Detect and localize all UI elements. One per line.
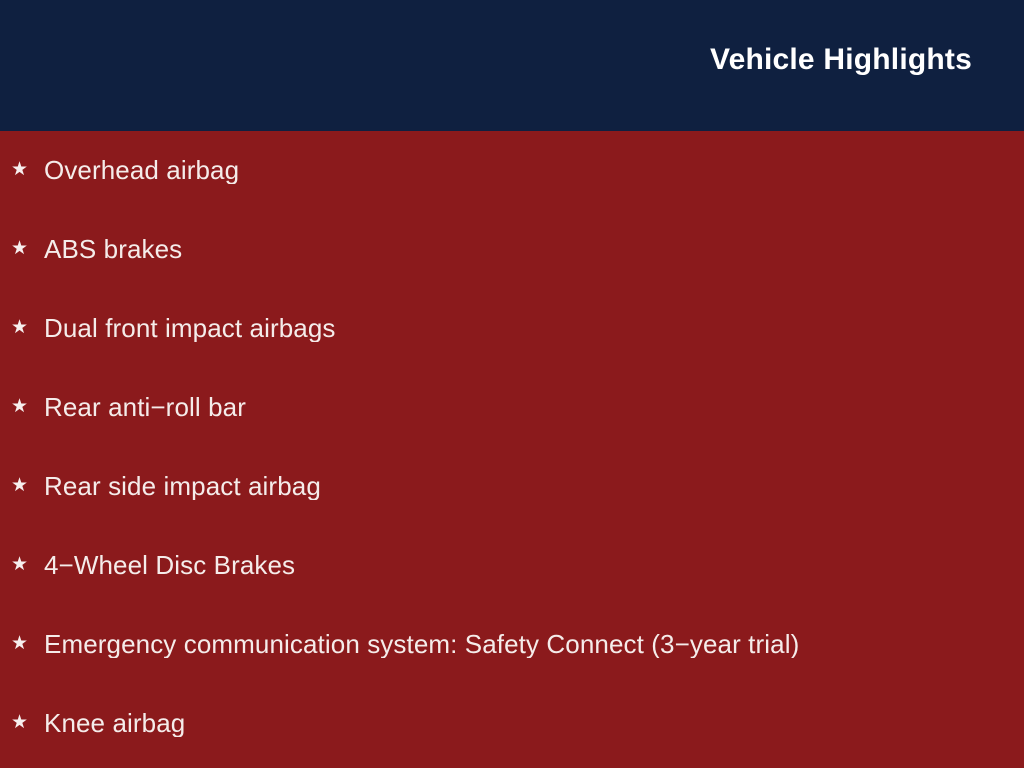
star-bullet-icon: ★ xyxy=(11,318,31,337)
highlight-label: ABS brakes xyxy=(44,235,182,264)
star-bullet-icon: ★ xyxy=(11,476,31,495)
highlight-label: Rear side impact airbag xyxy=(44,472,321,501)
list-item: ★ABS brakes xyxy=(11,230,1012,268)
list-item: ★Overhead airbag xyxy=(11,151,1012,189)
page-title: Vehicle Highlights xyxy=(710,45,972,75)
slide-canvas: Vehicle Highlights ★Overhead airbag★ABS … xyxy=(0,0,1024,768)
star-bullet-icon: ★ xyxy=(11,239,31,258)
slide-header: Vehicle Highlights xyxy=(0,0,1024,131)
star-bullet-icon: ★ xyxy=(11,555,31,574)
highlight-label: Knee airbag xyxy=(44,709,185,738)
list-item: ★4−Wheel Disc Brakes xyxy=(11,546,1012,584)
list-item: ★Knee airbag xyxy=(11,704,1012,742)
list-item: ★Emergency communication system: Safety … xyxy=(11,625,1012,663)
highlight-label: Overhead airbag xyxy=(44,156,239,185)
highlight-label: Dual front impact airbags xyxy=(44,314,336,343)
list-item: ★Rear anti−roll bar xyxy=(11,388,1012,426)
star-bullet-icon: ★ xyxy=(11,160,31,179)
star-bullet-icon: ★ xyxy=(11,397,31,416)
list-item: ★Rear side impact airbag xyxy=(11,467,1012,505)
star-bullet-icon: ★ xyxy=(11,713,31,732)
star-bullet-icon: ★ xyxy=(11,634,31,653)
list-item: ★Dual front impact airbags xyxy=(11,309,1012,347)
highlight-label: Rear anti−roll bar xyxy=(44,393,246,422)
highlight-label: 4−Wheel Disc Brakes xyxy=(44,551,295,580)
highlight-label: Emergency communication system: Safety C… xyxy=(44,630,799,659)
vehicle-highlights-list: ★Overhead airbag★ABS brakes★Dual front i… xyxy=(0,131,1024,768)
